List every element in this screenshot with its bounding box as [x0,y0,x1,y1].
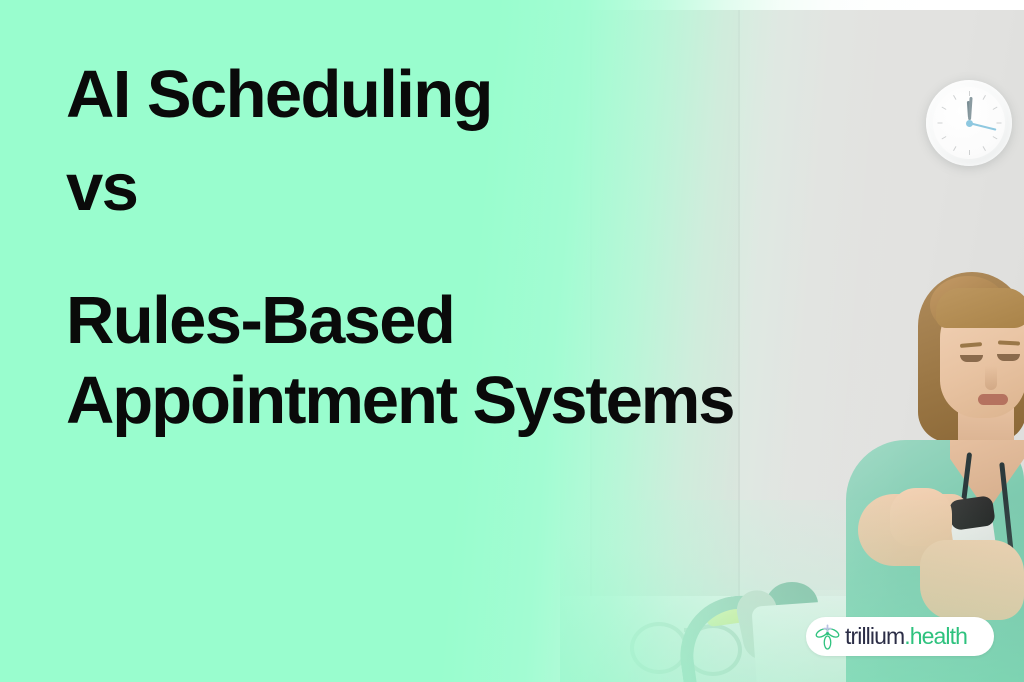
headline-line-1: AI Scheduling [66,52,966,138]
trillium-flower-icon [815,623,840,650]
nurse-nose [985,366,997,390]
brand-name: trillium [845,623,904,649]
nurse-eye-right [997,354,1020,361]
headline-line-3: Rules-Based [66,278,966,364]
headline-block: AI Scheduling vs Rules-Based Appointment… [66,52,966,444]
brand-logo-text: trillium.health [845,625,967,648]
headline-line-4: Appointment Systems [66,358,966,444]
nurse-mouth [978,394,1008,405]
brand-logo[interactable]: trillium.health [806,617,994,656]
slide-canvas: AI Scheduling vs Rules-Based Appointment… [0,0,1024,682]
headline-line-2: vs [66,144,966,232]
brand-suffix: health [910,623,967,649]
nurse-hand [920,540,1024,620]
nurse-fingers [890,488,952,546]
